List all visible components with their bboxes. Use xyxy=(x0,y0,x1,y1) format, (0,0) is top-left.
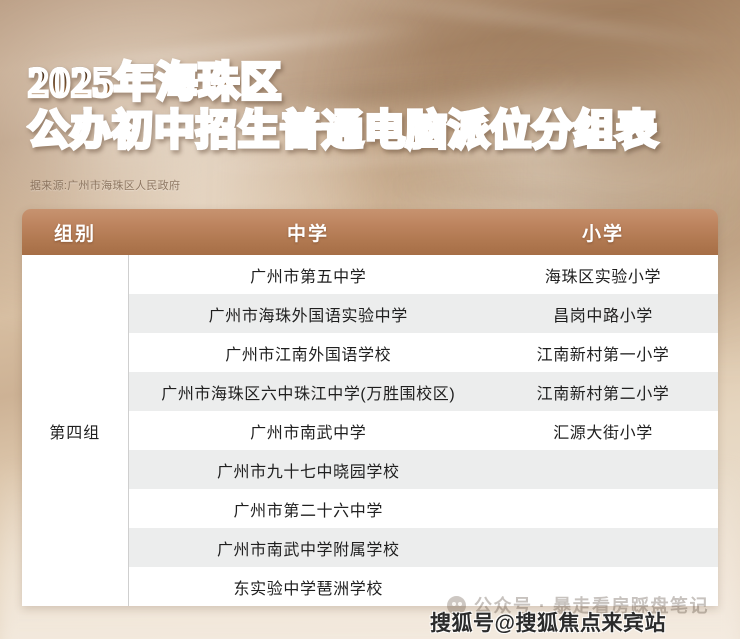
middle-school-cell: 广州市海珠外国语实验中学 xyxy=(128,294,488,333)
table-body: 第四组广州市第五中学海珠区实验小学广州市海珠外国语实验中学昌岗中路小学广州市江南… xyxy=(22,255,718,606)
middle-school-cell: 广州市第五中学 xyxy=(128,255,488,294)
column-header-primary-school: 小学 xyxy=(488,209,718,255)
middle-school-cell: 广州市南武中学 xyxy=(128,411,488,450)
middle-school-cell: 广州市第二十六中学 xyxy=(128,489,488,528)
placement-table: 组别 中学 小学 第四组广州市第五中学海珠区实验小学广州市海珠外国语实验中学昌岗… xyxy=(22,209,718,606)
primary-school-cell: 江南新村第一小学 xyxy=(488,333,718,372)
primary-school-cell: 昌岗中路小学 xyxy=(488,294,718,333)
primary-school-cell: 江南新村第二小学 xyxy=(488,372,718,411)
table-header-row: 组别 中学 小学 xyxy=(22,209,718,255)
group-label-cell: 第四组 xyxy=(22,255,128,606)
middle-school-cell: 东实验中学琶洲学校 xyxy=(128,567,488,606)
middle-school-cell: 广州市南武中学附属学校 xyxy=(128,528,488,567)
primary-school-cell xyxy=(488,528,718,567)
column-header-middle-school: 中学 xyxy=(128,209,488,255)
primary-school-cell xyxy=(488,450,718,489)
placement-table-container: 组别 中学 小学 第四组广州市第五中学海珠区实验小学广州市海珠外国语实验中学昌岗… xyxy=(22,209,718,606)
primary-school-cell: 汇源大街小学 xyxy=(488,411,718,450)
table-header: 组别 中学 小学 xyxy=(22,209,718,255)
poster-title-line-2: 公办初中招生普通电脑派位分组表 xyxy=(28,110,688,152)
source-attribution: 据来源:广州市海珠区人民政府 xyxy=(30,177,180,193)
primary-school-cell: 海珠区实验小学 xyxy=(488,255,718,294)
poster-title-line-1: 2025年海珠区 xyxy=(28,62,688,104)
middle-school-cell: 广州市九十七中晓园学校 xyxy=(128,450,488,489)
primary-school-cell xyxy=(488,567,718,606)
primary-school-cell xyxy=(488,489,718,528)
middle-school-cell: 广州市海珠区六中珠江中学(万胜围校区) xyxy=(128,372,488,411)
column-header-group: 组别 xyxy=(22,209,128,255)
middle-school-cell: 广州市江南外国语学校 xyxy=(128,333,488,372)
poster-title-block: 2025年海珠区 公办初中招生普通电脑派位分组表 xyxy=(28,62,688,152)
table-row: 第四组广州市第五中学海珠区实验小学 xyxy=(22,255,718,294)
